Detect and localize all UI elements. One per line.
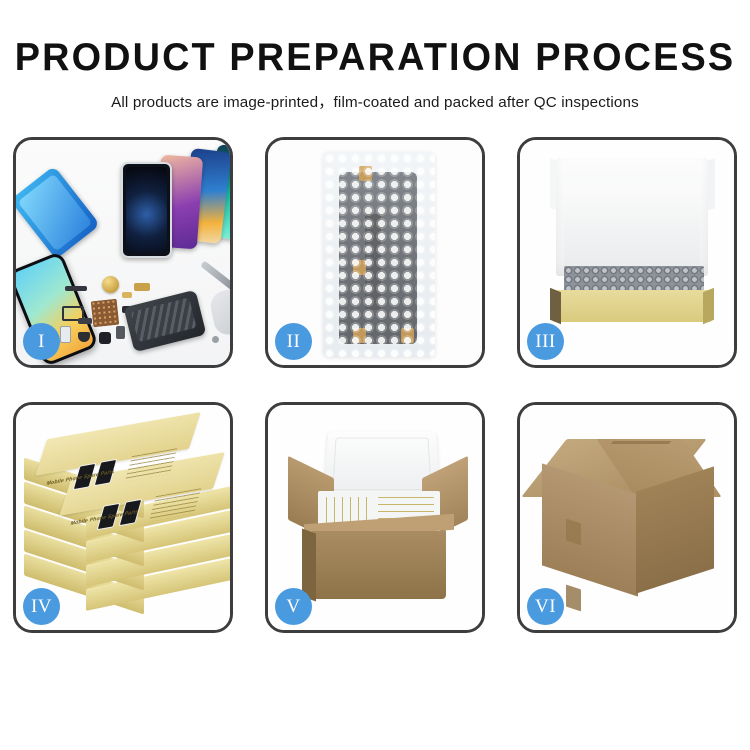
carton-seam bbox=[611, 441, 671, 444]
process-step-5[interactable]: V bbox=[265, 402, 485, 633]
process-step-4[interactable]: Mobile Phone Spare Parts Mobile Phone Sp… bbox=[13, 402, 233, 633]
process-step-2[interactable]: II bbox=[265, 137, 485, 368]
step-badge-6: VI bbox=[527, 588, 564, 625]
camera-module-icon bbox=[99, 332, 111, 344]
blue-phone-icon bbox=[16, 166, 100, 260]
process-step-3[interactable]: III bbox=[517, 137, 737, 368]
step-badge-2: II bbox=[275, 323, 312, 360]
coil-component-icon bbox=[102, 276, 119, 293]
tape-strip-icon bbox=[566, 519, 581, 546]
hand-icon bbox=[208, 287, 230, 337]
sim-tray-icon bbox=[60, 326, 71, 343]
step-badge-1: I bbox=[23, 323, 60, 360]
step-badge-4: IV bbox=[23, 588, 60, 625]
tape-strip-icon bbox=[566, 585, 581, 612]
flex-cable-icon bbox=[65, 286, 87, 291]
screen-panel-icon bbox=[121, 162, 172, 258]
foam-sheet bbox=[564, 184, 700, 272]
page-subtitle: All products are image-printed，film-coat… bbox=[0, 90, 750, 112]
connector-icon bbox=[134, 283, 150, 291]
small-clip-icon bbox=[78, 318, 92, 324]
bubble-bag bbox=[323, 152, 435, 357]
chip-array-icon bbox=[91, 299, 120, 328]
button-part-icon bbox=[116, 326, 125, 339]
page-header: PRODUCT PREPARATION PROCESS All products… bbox=[0, 0, 750, 112]
carton-body bbox=[312, 531, 446, 599]
process-step-1[interactable]: I bbox=[13, 137, 233, 368]
page-title: PRODUCT PREPARATION PROCESS bbox=[11, 38, 739, 79]
step-badge-3: III bbox=[527, 323, 564, 360]
gold-contact-icon bbox=[122, 292, 132, 298]
box-stack: Mobile Phone Spare Parts Mobile Phone Sp… bbox=[24, 423, 228, 621]
bubble-wrap-texture bbox=[323, 152, 435, 357]
step-badge-5: V bbox=[275, 588, 312, 625]
kraft-box-tray bbox=[552, 290, 712, 322]
phone-housing-icon bbox=[124, 290, 207, 353]
screwdriver-icon bbox=[200, 260, 230, 290]
process-grid: I II III bbox=[13, 137, 737, 633]
screw-icon bbox=[212, 336, 219, 343]
process-step-6[interactable]: VI bbox=[517, 402, 737, 633]
